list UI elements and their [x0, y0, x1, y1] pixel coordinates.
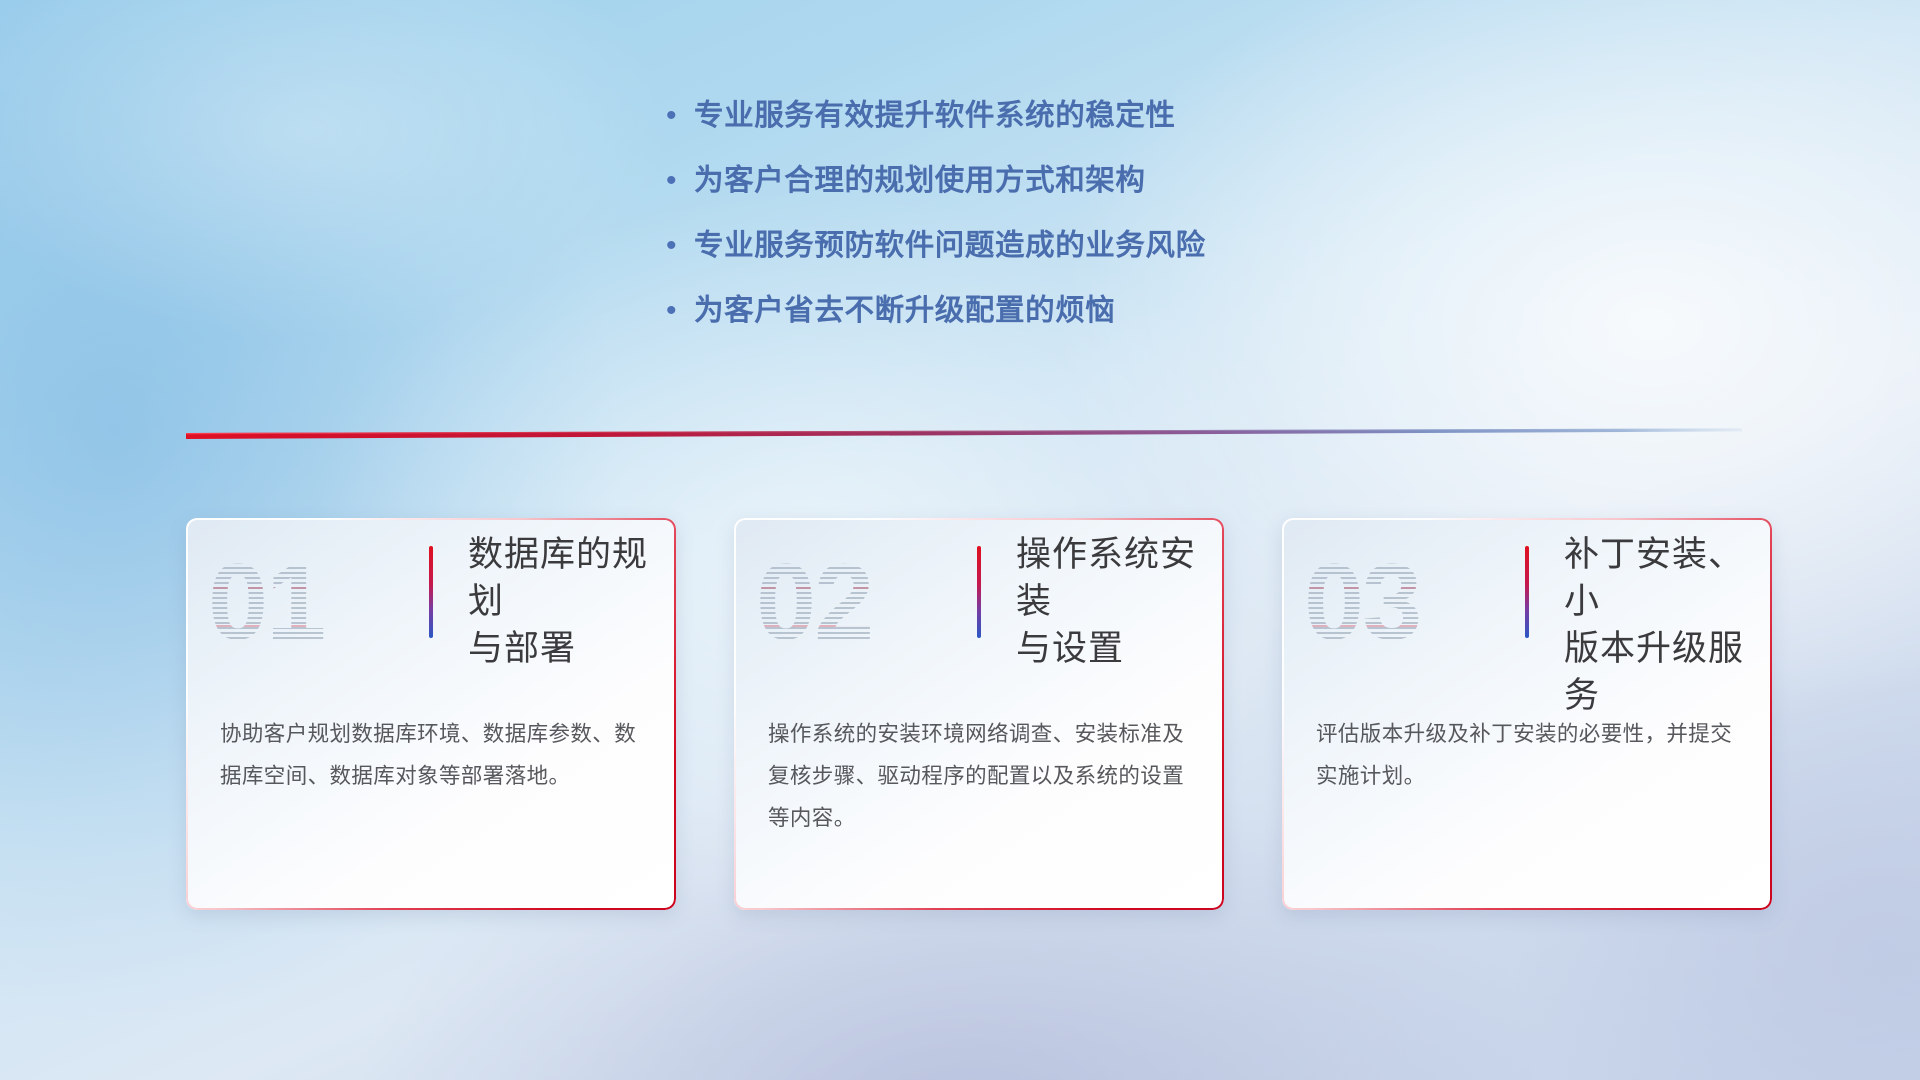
section-divider [186, 418, 1742, 444]
list-item: • 为客户省去不断升级配置的烦恼 [660, 287, 1206, 352]
card-title: 补丁安装、小 版本升级服务 [1564, 532, 1754, 720]
card-number-watermark-tint: 03 [1304, 532, 1514, 672]
bullet-dot-icon: • [660, 166, 694, 196]
card-title-line1: 补丁安装、小 [1564, 532, 1754, 626]
card-number-watermark-tint: 02 [756, 532, 966, 672]
bullet-text: 为客户省去不断升级配置的烦恼 [694, 287, 1115, 329]
list-item: • 为客户合理的规划使用方式和架构 [660, 157, 1206, 222]
card-body-text: 评估版本升级及补丁安装的必要性，并提交实施计划。 [1316, 714, 1742, 798]
card-body-text: 协助客户规划数据库环境、数据库参数、数据库空间、数据库对象等部署落地。 [220, 714, 646, 798]
service-card-list: 01 01 数据库的规划 与部署 协助客户规划数据库环境、数据库参数、数据库空间… [186, 518, 1774, 910]
card-title: 数据库的规划 与部署 [468, 532, 658, 673]
service-card[interactable]: 01 01 数据库的规划 与部署 协助客户规划数据库环境、数据库参数、数据库空间… [186, 518, 676, 910]
card-accent-bar [977, 546, 981, 638]
bullet-text: 专业服务有效提升软件系统的稳定性 [694, 92, 1176, 134]
bullet-dot-icon: • [660, 231, 694, 261]
bullet-text: 专业服务预防软件问题造成的业务风险 [694, 222, 1206, 264]
card-number-watermark-tint: 01 [208, 532, 418, 672]
list-item: • 专业服务有效提升软件系统的稳定性 [660, 92, 1206, 157]
bullet-text: 为客户合理的规划使用方式和架构 [694, 157, 1146, 199]
card-title-line2: 与部署 [468, 626, 658, 673]
card-title-line2: 与设置 [1016, 626, 1206, 673]
card-title-line1: 操作系统安装 [1016, 532, 1206, 626]
bullet-dot-icon: • [660, 296, 694, 326]
card-title-line2: 版本升级服务 [1564, 626, 1754, 720]
card-title: 操作系统安装 与设置 [1016, 532, 1206, 673]
card-title-line1: 数据库的规划 [468, 532, 658, 626]
card-body-text: 操作系统的安装环境网络调查、安装标准及复核步骤、驱动程序的配置以及系统的设置等内… [768, 714, 1194, 840]
card-accent-bar [429, 546, 433, 638]
service-card[interactable]: 03 03 补丁安装、小 版本升级服务 评估版本升级及补丁安装的必要性，并提交实… [1282, 518, 1772, 910]
card-header: 03 03 补丁安装、小 版本升级服务 [1282, 518, 1772, 690]
service-card[interactable]: 02 02 操作系统安装 与设置 操作系统的安装环境网络调查、安装标准及复核步骤… [734, 518, 1224, 910]
list-item: • 专业服务预防软件问题造成的业务风险 [660, 222, 1206, 287]
benefits-bullet-list: • 专业服务有效提升软件系统的稳定性 • 为客户合理的规划使用方式和架构 • 专… [660, 92, 1206, 352]
card-accent-bar [1525, 546, 1529, 638]
card-header: 02 02 操作系统安装 与设置 [734, 518, 1224, 690]
card-header: 01 01 数据库的规划 与部署 [186, 518, 676, 690]
bullet-dot-icon: • [660, 101, 694, 131]
